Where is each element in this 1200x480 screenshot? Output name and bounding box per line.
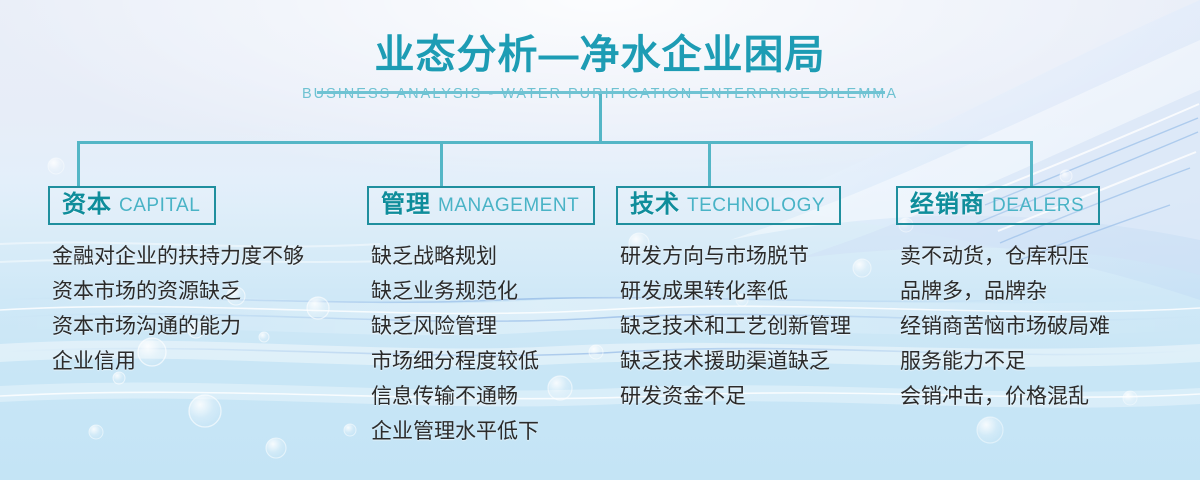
list-item: 市场细分程度较低 <box>371 344 595 379</box>
column-dealers: 经销商DEALERS 卖不动货，仓库积压 品牌多，品牌杂 经销商苦恼市场破局难 … <box>896 186 1110 414</box>
connector-stem <box>599 94 602 142</box>
category-label-cn: 资本 <box>62 191 112 218</box>
issue-list-capital: 金融对企业的扶持力度不够 资本市场的资源缺乏 资本市场沟通的能力 企业信用 <box>52 239 304 379</box>
list-item: 研发资金不足 <box>620 379 851 414</box>
list-item: 研发成果转化率低 <box>620 274 851 309</box>
list-item: 企业管理水平低下 <box>371 414 595 449</box>
category-label-cn: 经销商 <box>910 191 985 218</box>
category-chip-technology[interactable]: 技术TECHNOLOGY <box>616 186 841 225</box>
list-item: 会销冲击，价格混乱 <box>900 379 1110 414</box>
list-item: 研发方向与市场脱节 <box>620 239 851 274</box>
connector-drop-capital <box>77 141 80 186</box>
list-item: 缺乏战略规划 <box>371 239 595 274</box>
connector-drop-management <box>440 141 443 186</box>
list-item: 品牌多，品牌杂 <box>900 274 1110 309</box>
issue-list-dealers: 卖不动货，仓库积压 品牌多，品牌杂 经销商苦恼市场破局难 服务能力不足 会销冲击… <box>900 239 1110 414</box>
header: 业态分析—净水企业困局 BUSINESS ANALYSIS - WATER PU… <box>0 0 1200 102</box>
category-label-en: CAPITAL <box>119 195 200 216</box>
category-chip-capital[interactable]: 资本CAPITAL <box>48 186 216 225</box>
category-label-en: DEALERS <box>992 195 1084 216</box>
connector-drop-technology <box>708 141 711 186</box>
connector-horizontal-bar <box>77 141 1033 144</box>
category-label-cn: 技术 <box>630 191 680 218</box>
column-technology: 技术TECHNOLOGY 研发方向与市场脱节 研发成果转化率低 缺乏技术和工艺创… <box>616 186 851 414</box>
list-item: 信息传输不通畅 <box>371 379 595 414</box>
column-management: 管理MANAGEMENT 缺乏战略规划 缺乏业务规范化 缺乏风险管理 市场细分程… <box>367 186 595 449</box>
infographic-canvas: 业态分析—净水企业困局 BUSINESS ANALYSIS - WATER PU… <box>0 0 1200 480</box>
list-item: 服务能力不足 <box>900 344 1110 379</box>
page-title: 业态分析—净水企业困局 <box>0 0 1200 80</box>
list-item: 缺乏业务规范化 <box>371 274 595 309</box>
category-chip-management[interactable]: 管理MANAGEMENT <box>367 186 595 225</box>
list-item: 经销商苦恼市场破局难 <box>900 309 1110 344</box>
column-capital: 资本CAPITAL 金融对企业的扶持力度不够 资本市场的资源缺乏 资本市场沟通的… <box>48 186 304 379</box>
list-item: 缺乏技术援助渠道缺乏 <box>620 344 851 379</box>
category-label-en: MANAGEMENT <box>438 195 579 216</box>
list-item: 卖不动货，仓库积压 <box>900 239 1110 274</box>
list-item: 企业信用 <box>52 344 304 379</box>
category-label-cn: 管理 <box>381 191 431 218</box>
list-item: 金融对企业的扶持力度不够 <box>52 239 304 274</box>
issue-list-technology: 研发方向与市场脱节 研发成果转化率低 缺乏技术和工艺创新管理 缺乏技术援助渠道缺… <box>620 239 851 414</box>
list-item: 资本市场沟通的能力 <box>52 309 304 344</box>
list-item: 资本市场的资源缺乏 <box>52 274 304 309</box>
list-item: 缺乏技术和工艺创新管理 <box>620 309 851 344</box>
category-chip-dealers[interactable]: 经销商DEALERS <box>896 186 1100 225</box>
category-label-en: TECHNOLOGY <box>687 195 825 216</box>
list-item: 缺乏风险管理 <box>371 309 595 344</box>
connector-drop-dealers <box>1030 141 1033 186</box>
issue-list-management: 缺乏战略规划 缺乏业务规范化 缺乏风险管理 市场细分程度较低 信息传输不通畅 企… <box>371 239 595 449</box>
